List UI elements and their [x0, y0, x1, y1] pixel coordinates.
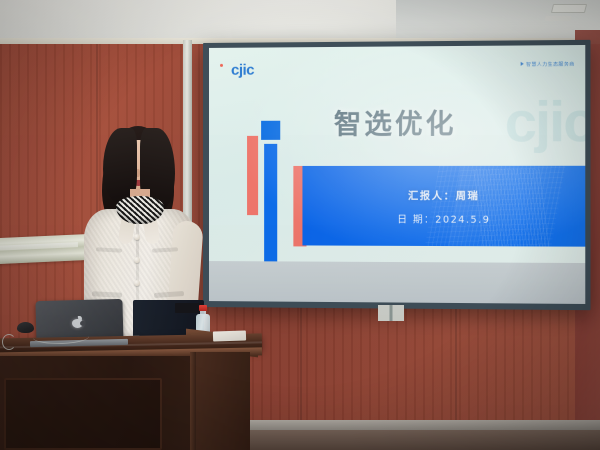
apple-logo-leaf: [78, 316, 82, 320]
presenter-jacket-button: [134, 257, 140, 263]
date-line: 日 期：2024.5.9: [302, 211, 585, 226]
computer-mouse: [17, 322, 34, 333]
ceiling-vent-secondary-icon: [544, 16, 571, 21]
floor: [240, 430, 600, 450]
podium-front-panel: [4, 378, 162, 450]
decor-red-bar-left: [247, 136, 258, 215]
projection-screen: cjic cjic 智慧人力生态服务商 智选优化 汇报人：周: [203, 40, 591, 310]
presenter-line: 汇报人：周瑞: [302, 187, 585, 203]
podium-right-panel: [196, 352, 250, 450]
screen-stand-legs: [378, 305, 404, 321]
papers: [213, 330, 246, 341]
tagline-triangle-icon: [521, 62, 524, 66]
presenter-jacket-button: [134, 234, 140, 240]
tagline-text: 智慧人力生态服务商: [526, 61, 575, 66]
ceiling-vent-icon: [551, 4, 587, 13]
projection-screen-surface: cjic cjic 智慧人力生态服务商 智选优化 汇报人：周: [209, 45, 585, 304]
screen-blank-area: [209, 261, 585, 304]
photo-scene: cjic cjic 智慧人力生态服务商 智选优化 汇报人：周: [0, 0, 600, 450]
presentation-slide: cjic cjic 智慧人力生态服务商 智选优化 汇报人：周: [209, 45, 585, 274]
decor-blue-square: [261, 121, 280, 140]
logo-text: cjic: [231, 62, 254, 79]
ring-binder: [2, 334, 16, 350]
presenter-jacket-button: [134, 280, 140, 286]
apple-logo-bite: [80, 321, 85, 326]
decor-blue-bar-vertical: [264, 144, 277, 269]
apple-logo-icon: [72, 316, 83, 328]
bottle-cap: [199, 305, 207, 311]
cjic-logo: cjic: [231, 62, 254, 79]
slide-banner: 汇报人：周瑞 日 期：2024.5.9: [302, 166, 585, 247]
slide-tagline: 智慧人力生态服务商: [521, 61, 575, 67]
banner-text-block: 汇报人：周瑞 日 期：2024.5.9: [302, 187, 585, 226]
logo-dot-icon: [220, 64, 223, 67]
